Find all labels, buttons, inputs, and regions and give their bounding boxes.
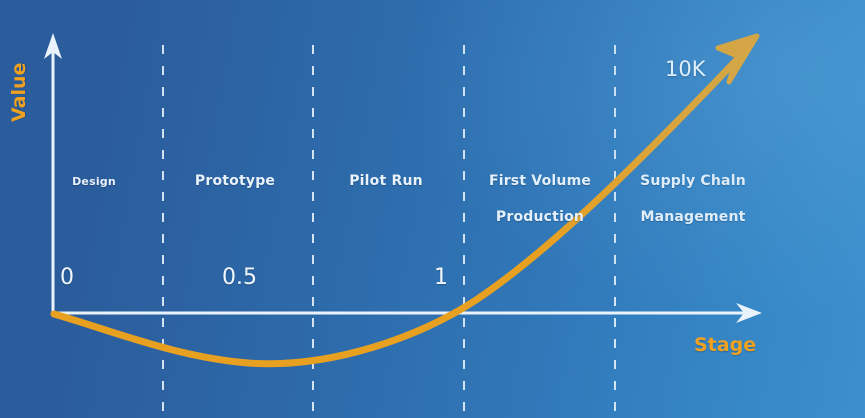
x-tick-1: 1 bbox=[434, 265, 448, 290]
x-axis bbox=[53, 303, 762, 323]
stage-label-prototype: Prototype bbox=[195, 173, 275, 189]
stage-label-pilot-run: Pilot Run bbox=[349, 173, 423, 189]
peak-value-annotation: 10K bbox=[665, 57, 706, 81]
y-axis-label: Value bbox=[8, 63, 30, 122]
x-tick-0-5: 0.5 bbox=[222, 265, 257, 290]
stage-label-line-2: Management bbox=[640, 209, 746, 225]
stage-label-line-1: First Volume bbox=[489, 173, 591, 189]
stage-label-line-1: Supply Chaln bbox=[640, 173, 746, 189]
stage-label-supply-chain-management: Supply Chaln Management bbox=[640, 173, 746, 225]
stage-label-first-volume-production: First Volume Production bbox=[489, 173, 591, 225]
x-tick-0: 0 bbox=[60, 265, 74, 290]
stage-label-line-2: Production bbox=[489, 209, 591, 225]
x-axis-label: Stage bbox=[694, 334, 756, 356]
stage-label-design: Design bbox=[72, 175, 116, 188]
value-vs-stage-chart: Value Stage 0 0.5 1 Design Prototype Pil… bbox=[0, 0, 865, 418]
